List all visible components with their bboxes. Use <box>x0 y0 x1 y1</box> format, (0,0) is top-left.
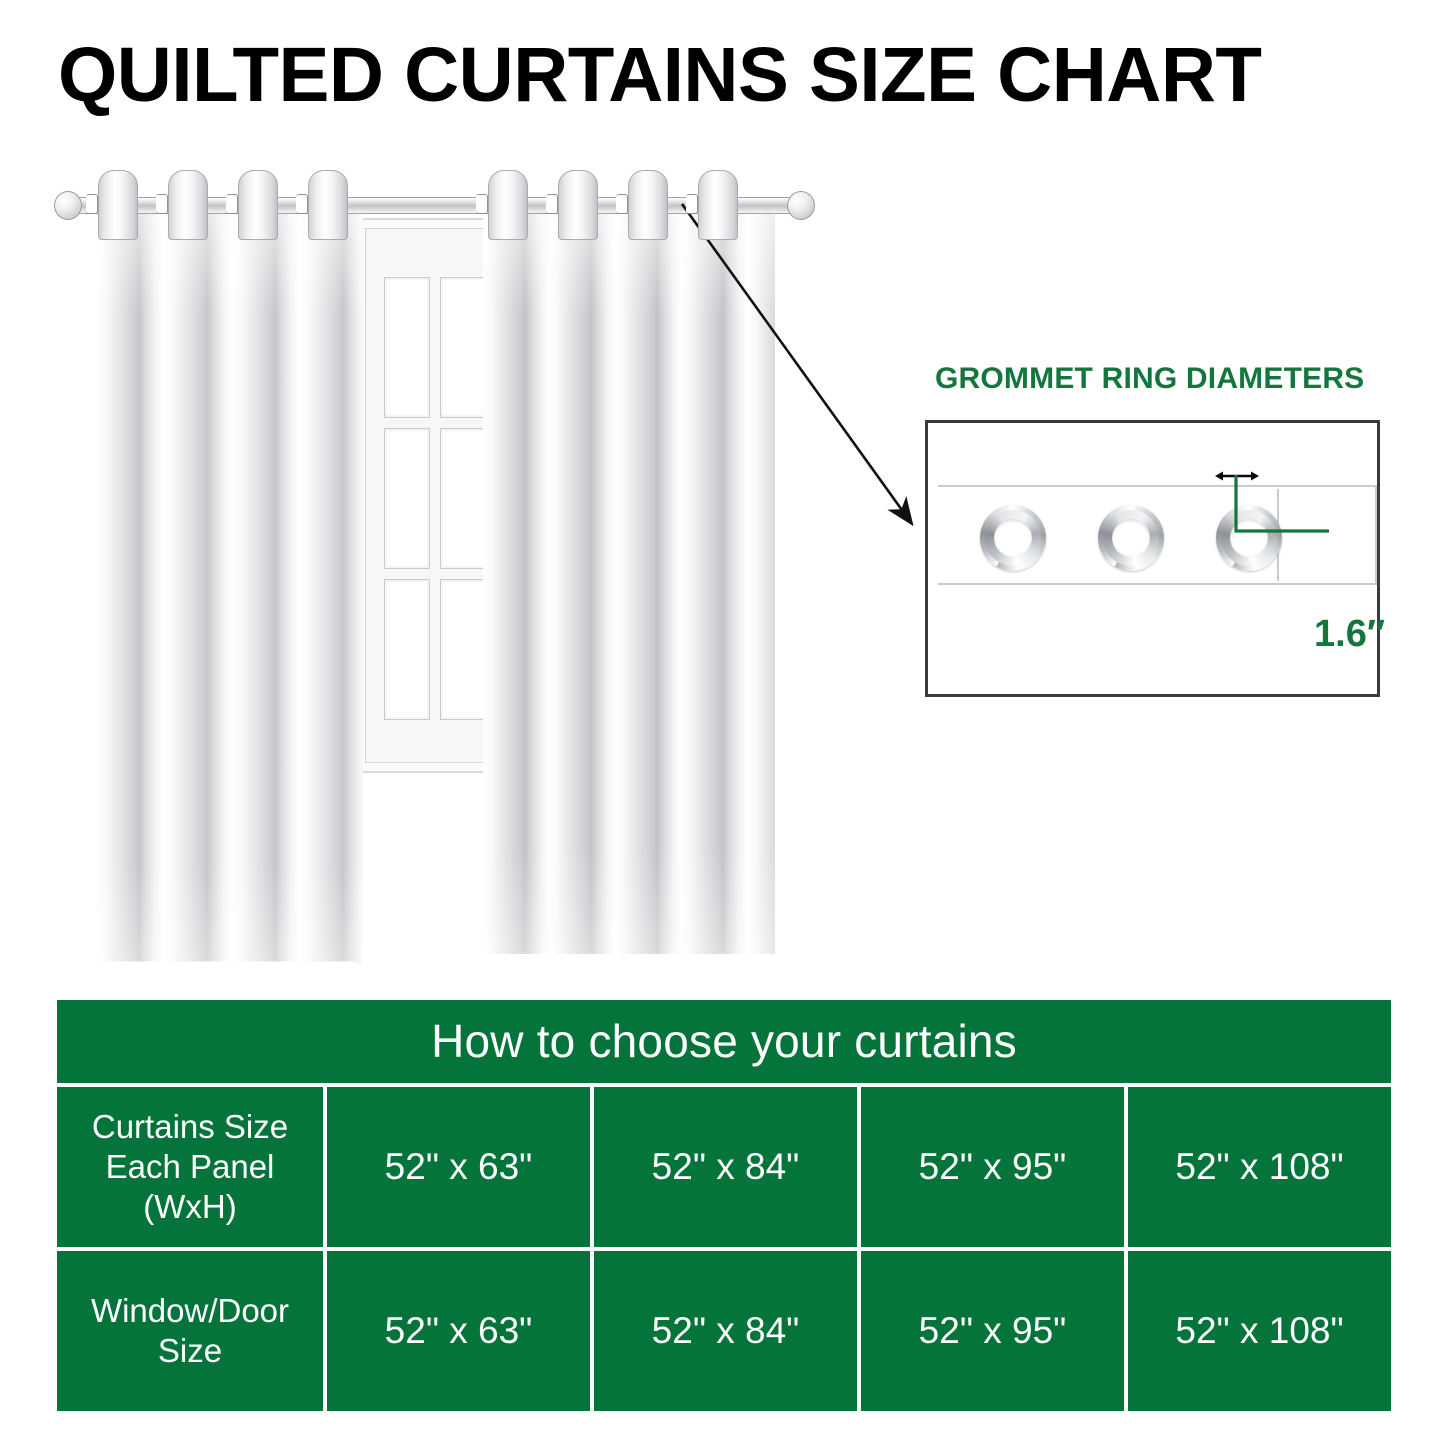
curtain-panel-right <box>483 186 775 954</box>
grommet-pleat <box>238 170 278 240</box>
row-label-curtains-size: Curtains Size Each Panel (WxH) <box>57 1087 323 1247</box>
row-label-line: Curtains Size <box>92 1107 288 1147</box>
grommet-ring-icon <box>1098 505 1164 571</box>
grommet-ring-gap-icon <box>156 194 168 214</box>
curtain-illustration <box>40 170 830 970</box>
grommet-detail-section: GROMMET RING DIAMETERS 1.6″ <box>925 362 1395 707</box>
table-cell: 52" x 63" <box>327 1251 590 1411</box>
row-label-line: Window/Door <box>91 1291 289 1331</box>
window-pane <box>384 277 430 418</box>
page-title: QUILTED CURTAINS SIZE CHART <box>58 34 1385 116</box>
row-label-line: Size <box>91 1331 289 1371</box>
rod-finial-right-icon <box>787 191 815 220</box>
curtain-panel-right-fabric <box>483 210 775 954</box>
grommet-ring-gap-icon <box>616 194 628 214</box>
grommet-section-heading: GROMMET RING DIAMETERS <box>935 362 1395 396</box>
table-cell: 52" x 108" <box>1128 1087 1391 1247</box>
rod-finial-left-icon <box>54 191 82 220</box>
grommet-pleat <box>98 170 138 240</box>
dimension-leader-line <box>1233 475 1329 537</box>
grommet-pleat <box>698 170 738 240</box>
grommet-pleat <box>308 170 348 240</box>
window-pane <box>384 579 430 720</box>
grommet-ring-gap-icon <box>226 194 238 214</box>
grommet-pleat <box>488 170 528 240</box>
window-pane <box>440 277 486 418</box>
grommet-ring-gap-icon <box>476 194 488 214</box>
grommet-pleat <box>168 170 208 240</box>
size-chart-table: How to choose your curtains Curtains Siz… <box>57 1000 1391 1411</box>
grommet-diameter-label: 1.6″ <box>1314 613 1385 656</box>
grommet-ring-gap-icon <box>546 194 558 214</box>
window-pane <box>440 579 486 720</box>
table-cell: 52" x 108" <box>1128 1251 1391 1411</box>
grommet-detail-box: 1.6″ <box>925 420 1380 697</box>
curtain-panel-left <box>95 186 363 966</box>
grommet-ring-gap-icon <box>86 194 98 214</box>
table-row: Curtains Size Each Panel (WxH) 52" x 63"… <box>57 1087 1391 1247</box>
window-pane <box>384 428 430 569</box>
row-label-line: Each Panel <box>92 1147 288 1187</box>
grommet-ring-gap-icon <box>296 194 308 214</box>
grommet-ring-icon <box>980 505 1046 571</box>
grommet-pleat <box>558 170 598 240</box>
table-cell: 52" x 63" <box>327 1087 590 1247</box>
row-label-line: (WxH) <box>92 1187 288 1227</box>
table-header-title: How to choose your curtains <box>57 1000 1391 1083</box>
table-cell: 52" x 95" <box>861 1251 1124 1411</box>
table-cell: 52" x 84" <box>594 1251 857 1411</box>
curtain-panel-left-fabric <box>95 210 363 966</box>
table-row: Window/Door Size 52" x 63" 52" x 84" 52"… <box>57 1251 1391 1411</box>
table-cell: 52" x 95" <box>861 1087 1124 1247</box>
row-label-window-door-size: Window/Door Size <box>57 1251 323 1411</box>
grommet-ring-gap-icon <box>686 194 698 214</box>
window-pane <box>440 428 486 569</box>
grommet-pleat <box>628 170 668 240</box>
table-cell: 52" x 84" <box>594 1087 857 1247</box>
